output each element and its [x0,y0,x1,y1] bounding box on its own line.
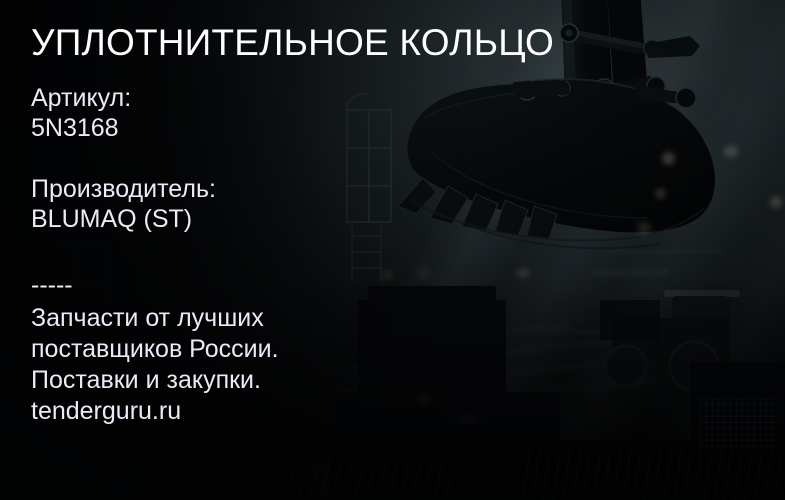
product-banner: УПЛОТНИТЕЛЬНОЕ КОЛЬЦО Артикул: 5N3168 Пр… [0,0,785,500]
banner-text-content: УПЛОТНИТЕЛЬНОЕ КОЛЬЦО Артикул: 5N3168 Пр… [31,0,591,500]
article-value: 5N3168 [31,113,131,143]
promo-line-3: Поставки и закупки. [31,365,279,396]
divider: ----- [31,272,279,298]
promo-line-1: Запчасти от лучших [31,303,279,334]
promo-line-2: поставщиков России. [31,334,279,365]
article-field: Артикул: 5N3168 [31,83,131,143]
site-url: tenderguru.ru [31,396,279,427]
promo-text: Запчасти от лучших поставщиков России. П… [31,303,279,427]
article-label: Артикул: [31,83,131,113]
page-title: УПЛОТНИТЕЛЬНОЕ КОЛЬЦО [31,21,554,65]
promo-block: ----- Запчасти от лучших поставщиков Рос… [31,272,279,427]
manufacturer-field: Производитель: BLUMAQ (ST) [31,174,216,234]
manufacturer-label: Производитель: [31,174,216,204]
manufacturer-value: BLUMAQ (ST) [31,204,216,234]
